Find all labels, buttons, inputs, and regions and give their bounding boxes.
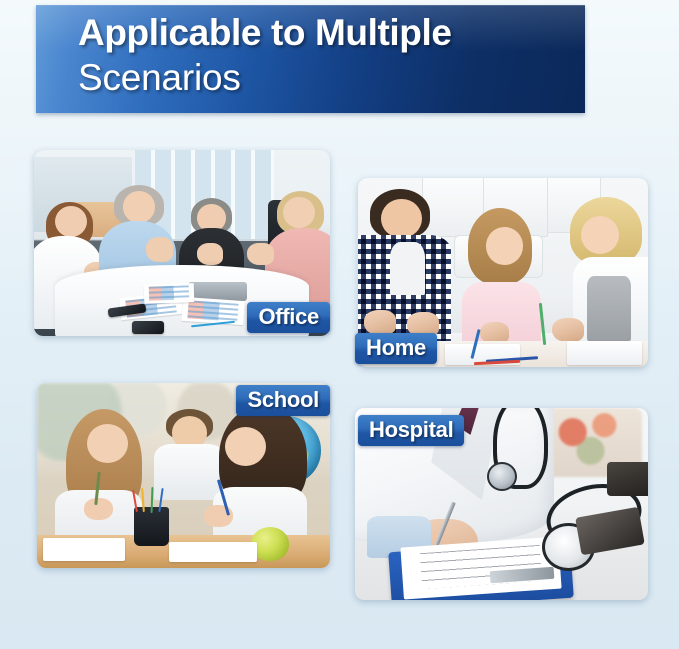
scenario-card-home: Home <box>358 178 648 367</box>
page-title-line-2: Scenarios <box>78 59 575 96</box>
badge-school[interactable]: School <box>236 385 330 416</box>
page-title: Applicable to Multiple Scenarios <box>78 14 575 96</box>
badge-home[interactable]: Home <box>355 333 437 364</box>
badge-office[interactable]: Office <box>247 302 330 333</box>
scenario-card-hospital: Hospital <box>355 408 648 600</box>
badge-hospital[interactable]: Hospital <box>358 415 464 446</box>
scenario-card-school: School <box>37 383 330 568</box>
page-title-line-1: Applicable to Multiple <box>78 14 575 51</box>
header-banner: Applicable to Multiple Scenarios <box>36 5 585 113</box>
scenario-card-office: Office <box>34 150 330 336</box>
